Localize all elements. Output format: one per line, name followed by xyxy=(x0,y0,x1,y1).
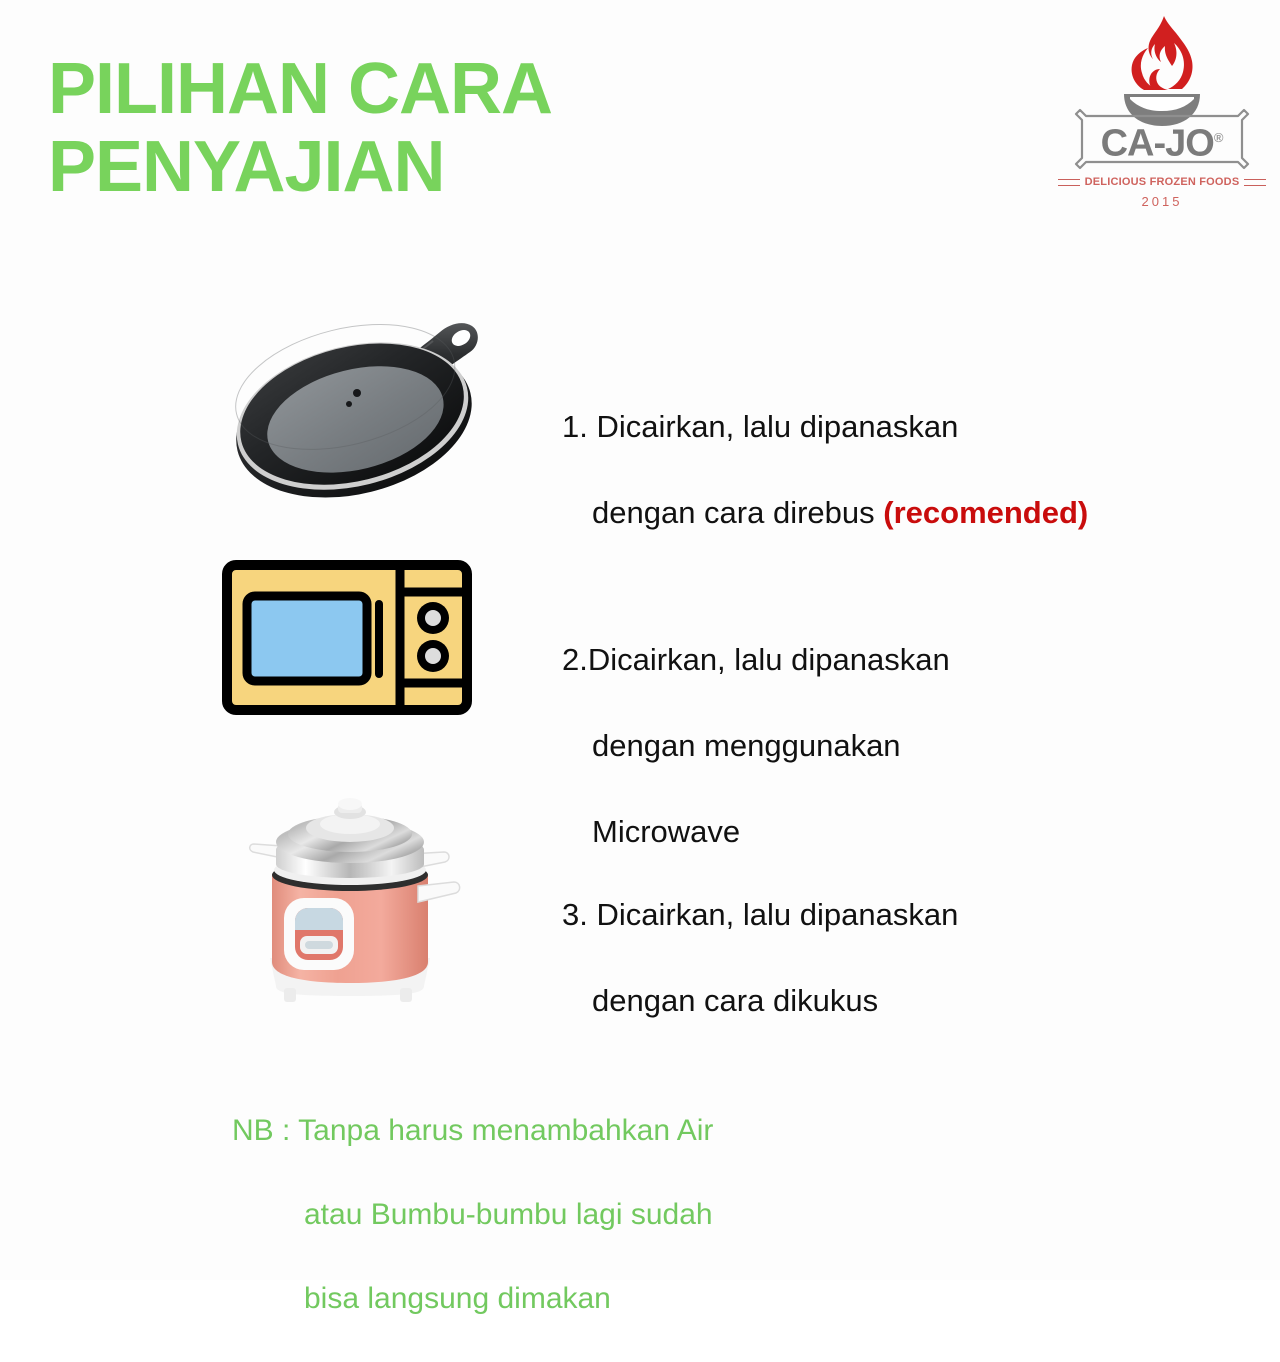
step-3-text: 3. Dicairkan, lalu dipanaskan dengan car… xyxy=(562,850,1082,1065)
step-2-line-1: 2.Dicairkan, lalu dipanaskan xyxy=(562,642,950,677)
logo-year: 2015 xyxy=(1072,194,1252,209)
logo-wordmark: CA-JO® xyxy=(1072,112,1252,170)
step-3-line-2: dengan cara dikukus xyxy=(562,979,1082,1022)
nb-note-line-3: bisa langsung dimakan xyxy=(232,1278,932,1320)
rice-cooker-icon xyxy=(248,790,468,1015)
step-3-line-1: 3. Dicairkan, lalu dipanaskan xyxy=(562,897,958,932)
registered-mark-icon: ® xyxy=(1214,130,1224,145)
step-2-line-2: dengan menggunakan xyxy=(562,724,1082,767)
tagline-rule-right xyxy=(1244,179,1266,186)
nb-note-line-2: atau Bumbu-bumbu lagi sudah xyxy=(232,1194,932,1236)
page-title: PILIHAN CARA PENYAJIAN xyxy=(48,50,808,206)
microwave-icon xyxy=(222,560,472,715)
frying-pan-icon xyxy=(225,310,515,510)
step-1-recommended-badge: (recomended) xyxy=(883,495,1088,530)
step-row-2: 2.Dicairkan, lalu dipanaskan dengan meng… xyxy=(0,545,1280,745)
nb-note: NB : Tanpa harus menambahkan Air atau Bu… xyxy=(232,1068,932,1362)
nb-note-line-1: NB : Tanpa harus menambahkan Air xyxy=(232,1114,713,1147)
step-row-3: 3. Dicairkan, lalu dipanaskan dengan car… xyxy=(0,790,1280,1020)
brand-logo: CA-JO® DELICIOUS FROZEN FOODS 2015 xyxy=(1072,14,1252,214)
step-row-1: 1. Dicairkan, lalu dipanaskan dengan car… xyxy=(0,300,1280,530)
logo-tagline-row: DELICIOUS FROZEN FOODS xyxy=(1072,176,1252,188)
tagline-rule-left xyxy=(1058,179,1080,186)
logo-tagline: DELICIOUS FROZEN FOODS xyxy=(1085,176,1240,188)
step-1-line-1: 1. Dicairkan, lalu dipanaskan xyxy=(562,409,958,444)
step-1-line-2: dengan cara direbus xyxy=(592,495,883,530)
logo-wordmark-text: CA-JO xyxy=(1101,123,1214,165)
step-1-line-2-wrap: dengan cara direbus (recomended) xyxy=(562,491,1182,534)
flame-icon xyxy=(1120,14,1204,100)
